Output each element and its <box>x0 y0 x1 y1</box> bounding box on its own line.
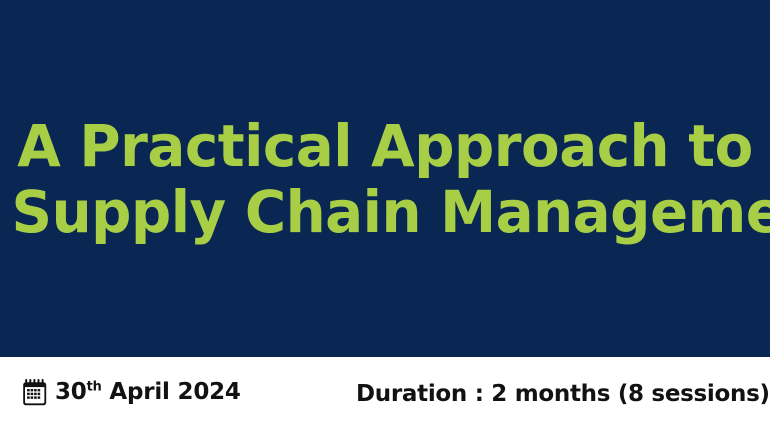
title-line-1: A Practical Approach to <box>12 113 759 179</box>
course-duration-label: Duration : 2 months (8 sessions) <box>356 381 770 408</box>
event-date-text: 30th April 2024 <box>55 379 241 406</box>
event-date-ordinal: th <box>87 379 102 394</box>
page-title: A Practical Approach to Supply Chain Man… <box>12 113 759 245</box>
event-date-month-year: April 2024 <box>109 379 240 405</box>
footer-content: 30th April 2024 Duration : 2 months (8 s… <box>0 357 770 433</box>
event-announcement-slide: A Practical Approach to Supply Chain Man… <box>0 0 770 433</box>
title-line-2: Supply Chain Management <box>12 179 759 245</box>
footer-bar: 30th April 2024 Duration : 2 months (8 s… <box>0 357 770 433</box>
event-date-block: 30th April 2024 <box>22 379 241 406</box>
calendar-icon <box>22 379 48 406</box>
hero-panel: A Practical Approach to Supply Chain Man… <box>0 0 770 357</box>
event-date-day: 30 <box>55 379 87 405</box>
